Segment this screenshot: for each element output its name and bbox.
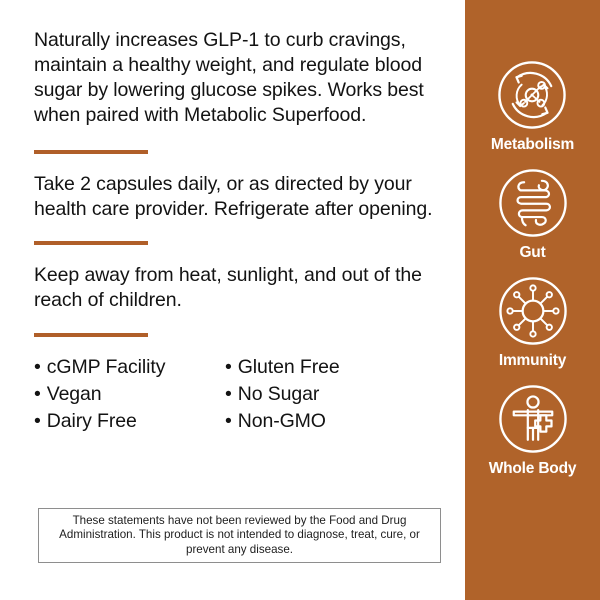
benefit-label: Immunity (499, 352, 566, 370)
bullet-glyph-icon: • (34, 383, 41, 405)
section-divider-2 (34, 241, 148, 245)
list-item-label: Dairy Free (47, 410, 137, 432)
bullet-glyph-icon: • (34, 410, 41, 432)
benefit-metabolism: Metabolism (491, 58, 574, 154)
list-item: •Non-GMO (225, 408, 340, 435)
list-item-label: Non-GMO (238, 410, 326, 432)
certification-bullet-list: •cGMP Facility •Vegan •Dairy Free •Glute… (34, 354, 447, 435)
benefit-label: Whole Body (489, 460, 577, 478)
storage-warning-paragraph: Keep away from heat, sunlight, and out o… (34, 263, 447, 313)
list-item: •No Sugar (225, 381, 340, 408)
list-item: •Vegan (34, 381, 225, 408)
list-item: •Dairy Free (34, 408, 225, 435)
metabolism-molecule-icon (495, 58, 569, 132)
list-item: •Gluten Free (225, 354, 340, 381)
bullet-glyph-icon: • (225, 383, 232, 405)
section-divider-1 (34, 150, 148, 154)
benefit-label: Gut (519, 244, 545, 262)
benefit-immunity: Immunity (496, 274, 570, 370)
directions-paragraph: Take 2 capsules daily, or as directed by… (34, 172, 447, 222)
human-body-plus-icon (496, 382, 570, 456)
benefits-paragraph: Naturally increases GLP-1 to curb cravin… (34, 28, 447, 128)
benefit-gut: Gut (496, 166, 570, 262)
certification-column-right: •Gluten Free •No Sugar •Non-GMO (225, 354, 340, 435)
benefits-icon-rail: Metabolism Gut (465, 0, 600, 600)
fda-disclaimer-box: These statements have not been reviewed … (38, 508, 441, 563)
intestines-icon (496, 166, 570, 240)
certification-column-left: •cGMP Facility •Vegan •Dairy Free (34, 354, 225, 435)
list-item-label: cGMP Facility (47, 356, 166, 378)
list-item-label: No Sugar (238, 383, 320, 405)
fda-disclaimer-text: These statements have not been reviewed … (39, 514, 440, 558)
list-item-label: Vegan (47, 383, 102, 405)
bullet-glyph-icon: • (225, 410, 232, 432)
list-item: •cGMP Facility (34, 354, 225, 381)
list-item-label: Gluten Free (238, 356, 340, 378)
bullet-glyph-icon: • (34, 356, 41, 378)
benefit-label: Metabolism (491, 136, 574, 154)
section-divider-3 (34, 333, 148, 337)
virus-cell-icon (496, 274, 570, 348)
supplement-label-panel: Naturally increases GLP-1 to curb cravin… (0, 0, 600, 600)
bullet-glyph-icon: • (225, 356, 232, 378)
benefit-whole-body: Whole Body (489, 382, 577, 478)
